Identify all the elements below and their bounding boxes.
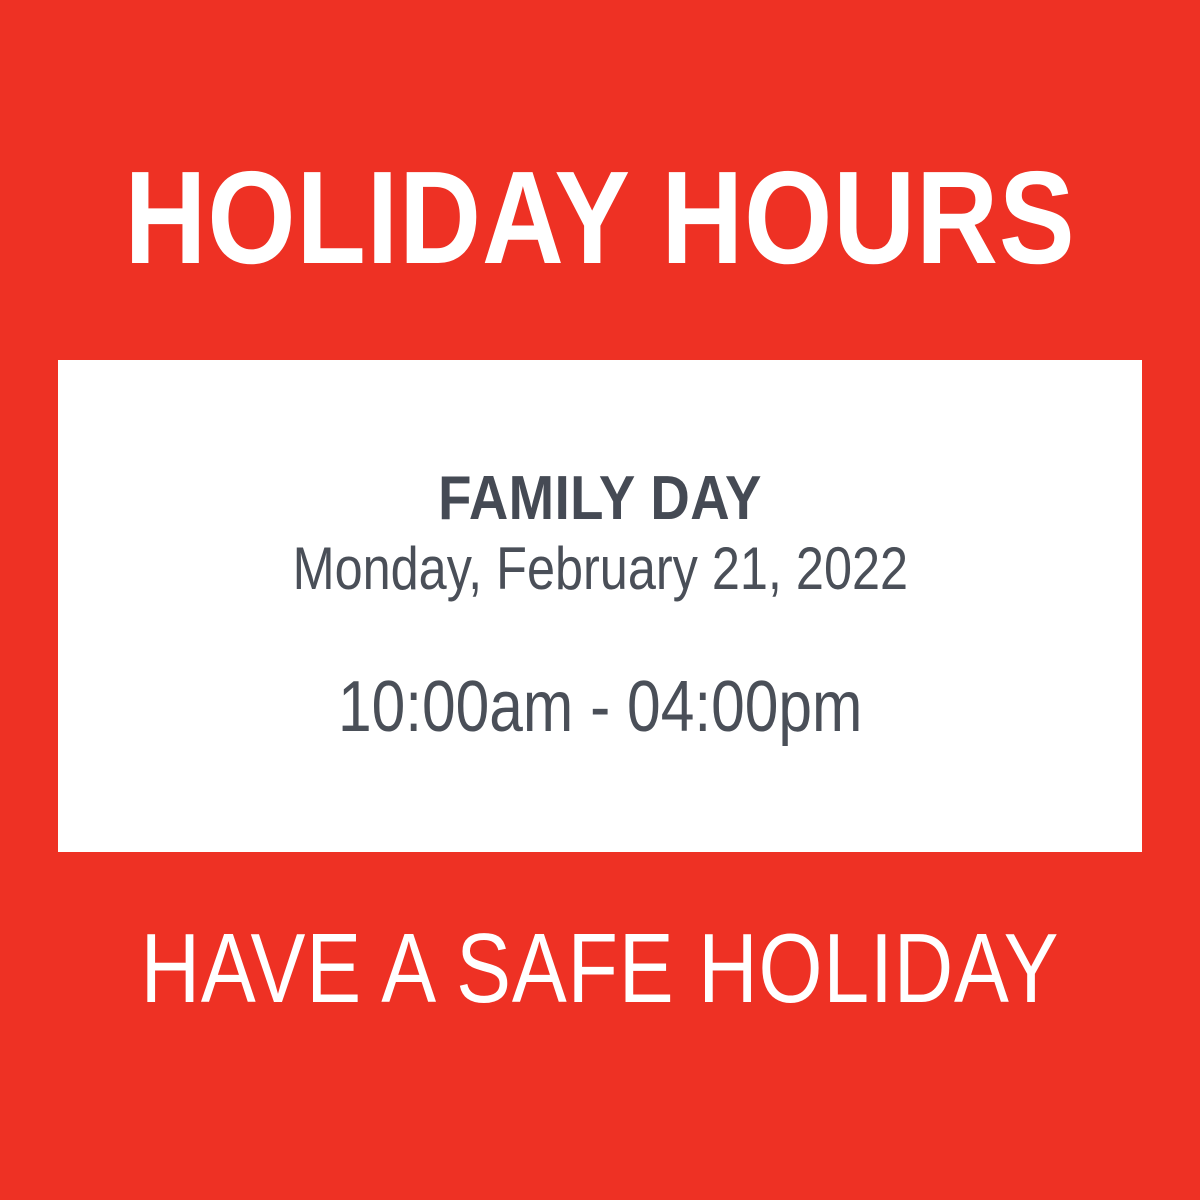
event-date: Monday, February 21, 2022 — [292, 537, 907, 600]
page-title: HOLIDAY HOURS — [84, 148, 1116, 288]
footer-message: HAVE A SAFE HOLIDAY — [96, 908, 1104, 1028]
holiday-info-card: FAMILY DAY Monday, February 21, 2022 10:… — [58, 360, 1142, 852]
event-name: FAMILY DAY — [438, 466, 762, 531]
holiday-hours-poster: HOLIDAY HOURS FAMILY DAY Monday, Februar… — [0, 0, 1200, 1200]
holiday-info-card-content: FAMILY DAY Monday, February 21, 2022 10:… — [58, 360, 1142, 852]
event-hours: 10:00am - 04:00pm — [338, 670, 862, 746]
